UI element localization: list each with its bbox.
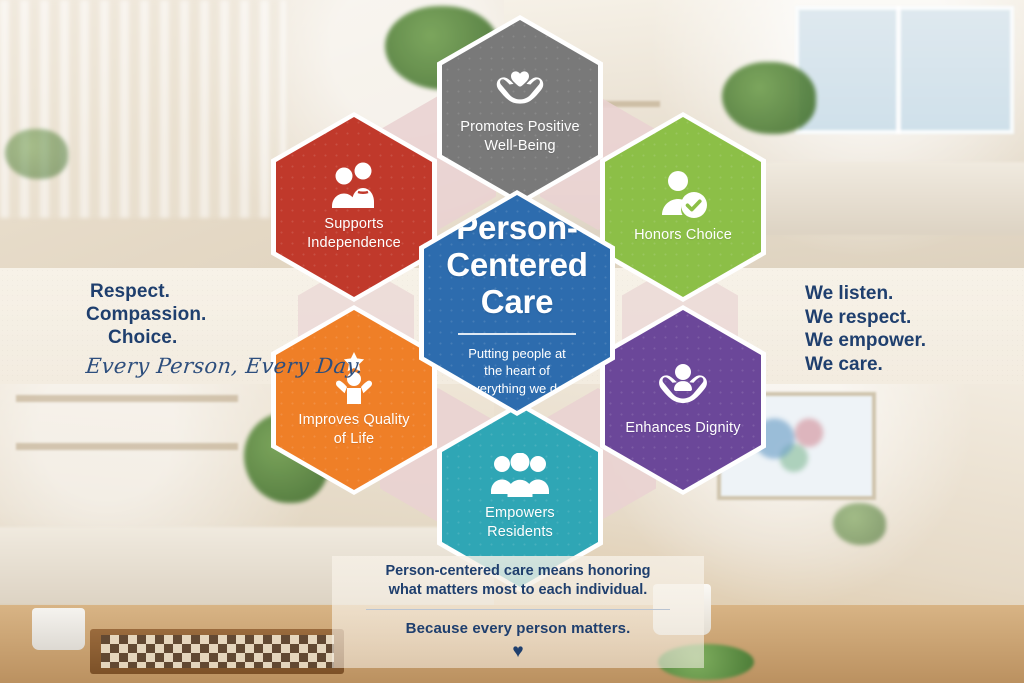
right-slogan-block: We listen. We respect. We empower. We ca…	[805, 282, 926, 376]
people-group-icon	[489, 453, 551, 497]
hex-label: Supports Independence	[276, 215, 432, 252]
heart-icon: ♥	[340, 644, 696, 660]
left-slogan-block: Respect. Compassion. Choice. Every Perso…	[86, 280, 363, 378]
center-title-line-3: Care	[446, 283, 587, 320]
hex-label: Enhances Dignity	[609, 419, 756, 438]
left-slogan-line-1: Respect.	[86, 280, 363, 303]
left-slogan-line-3: Choice.	[86, 326, 363, 349]
infographic-canvas: Respect. Compassion. Choice. Every Perso…	[0, 0, 1024, 683]
bottom-statement-lead-1: Person-centered care means honoring	[340, 562, 696, 581]
hex-label: Improves Quality of Life	[276, 411, 432, 448]
right-slogan-line-3: We empower.	[805, 329, 926, 353]
right-slogan-line-1: We listen.	[805, 282, 926, 306]
center-title-line-2: Centered	[446, 246, 587, 283]
person-check-icon	[657, 169, 709, 219]
right-slogan-line-4: We care.	[805, 353, 926, 377]
bottom-statement-block: Person-centered care means honoring what…	[332, 556, 704, 668]
bottom-statement-lead-2: what matters most to each individual.	[340, 581, 696, 600]
heart-in-hands-icon	[492, 65, 548, 111]
left-slogan-script: Every Person, Every Day.	[85, 354, 365, 378]
center-divider	[458, 333, 576, 335]
hex-label: Promotes Positive Well-Being	[442, 118, 598, 155]
right-slogan-line-2: We respect.	[805, 306, 926, 330]
two-people-icon	[328, 162, 380, 208]
hex-label: Honors Choice	[618, 226, 748, 245]
person-in-hands-icon	[655, 362, 711, 412]
left-slogan-line-2: Compassion.	[86, 303, 363, 326]
bottom-statement-kicker: Because every person matters.	[340, 620, 696, 637]
hex-label: Empowers Residents	[442, 504, 598, 541]
bottom-statement-divider	[366, 609, 670, 610]
